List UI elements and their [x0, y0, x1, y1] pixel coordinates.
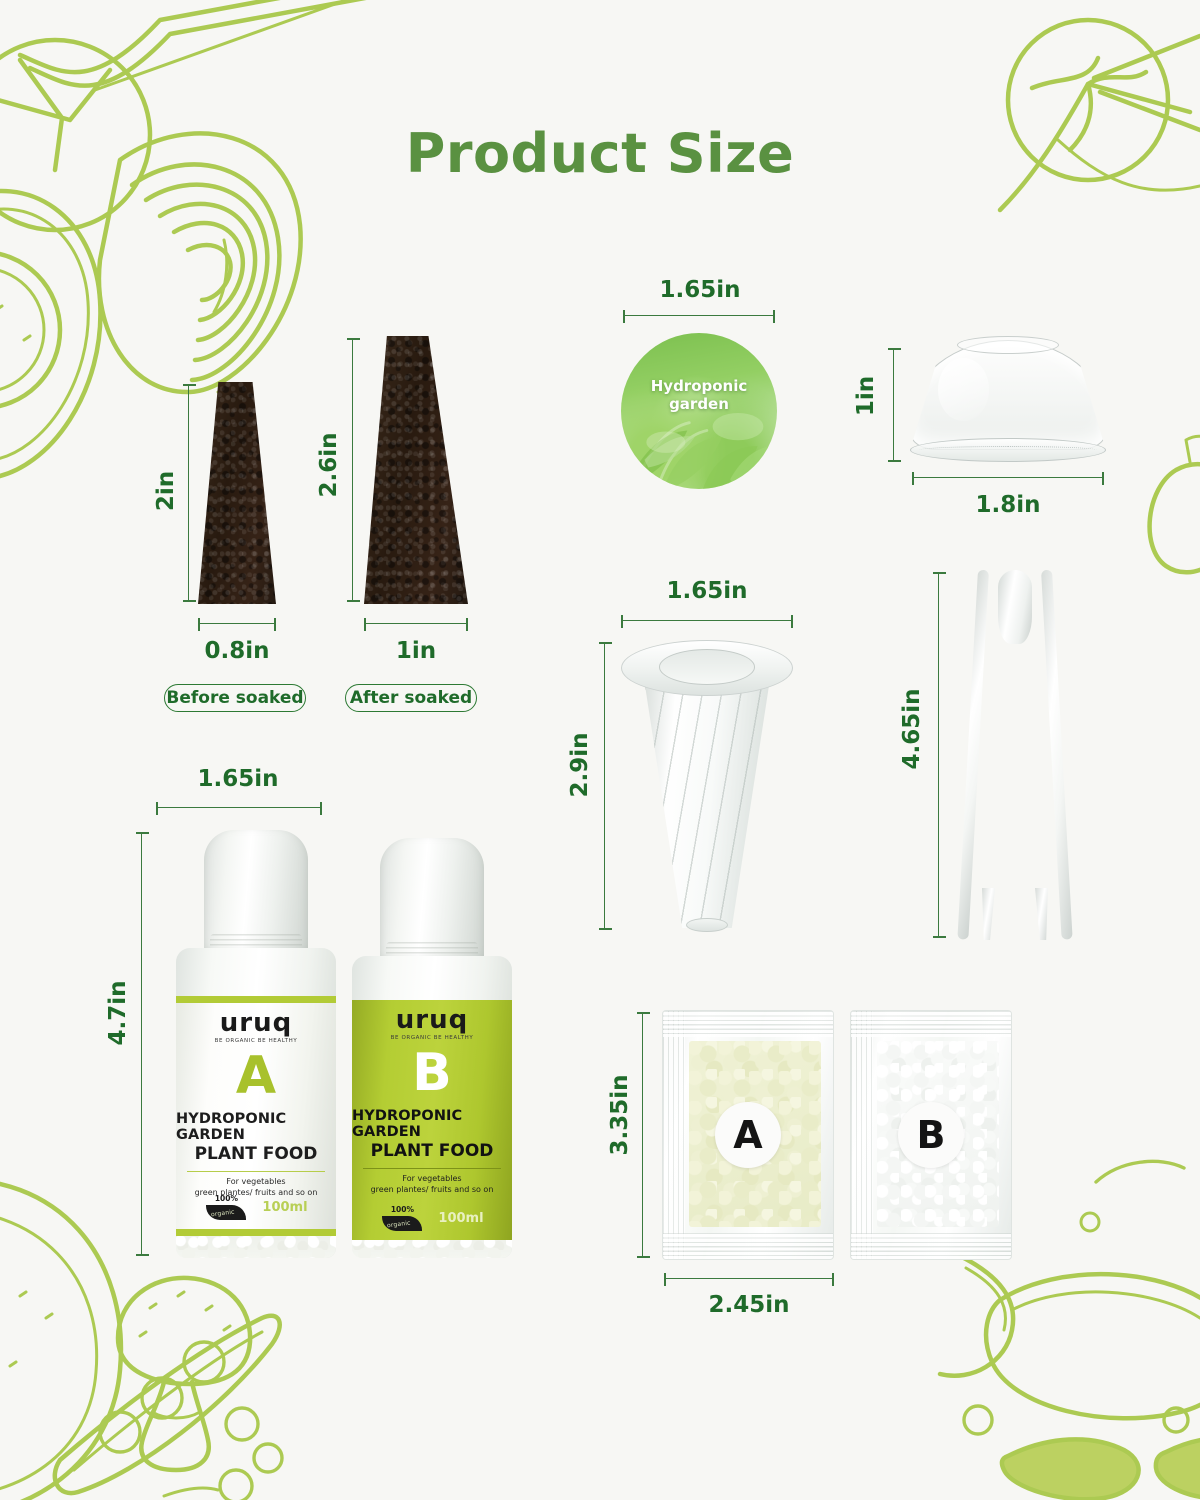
sponge-before-soaked	[198, 382, 276, 604]
bottle-b-label: uruq BE ORGANIC BE HEALTHY B HYDROPONIC …	[352, 1000, 512, 1240]
net-cup	[621, 640, 793, 928]
bottle-a-badge-pct: 100%	[215, 1194, 238, 1203]
bottle-b-line1: HYDROPONIC GARDEN	[352, 1108, 512, 1140]
bottle-a-body: uruq BE ORGANIC BE HEALTHY A HYDROPONIC …	[176, 948, 336, 1258]
bottle-b-cap	[380, 838, 484, 964]
bottle-a-line1: HYDROPONIC GARDEN	[176, 1111, 336, 1143]
sachets-height-label: 3.35in	[607, 1067, 633, 1163]
sponge-after-height-label: 2.6in	[316, 424, 342, 506]
bottle-a-cap	[204, 830, 308, 956]
sponge-after-caption: After soaked	[345, 684, 477, 712]
sponge-after-height-rule	[352, 338, 353, 602]
bottle-b-fine2: green plantes/ fruits and so on	[371, 1185, 494, 1194]
sponge-before-height-label: 2in	[153, 459, 179, 523]
tweezer-bend	[998, 570, 1032, 644]
sachets-height-rule	[642, 1012, 643, 1258]
dome-bottom-rim	[910, 438, 1106, 462]
bottles-width-label: 1.65in	[152, 766, 324, 792]
organic-badge-icon: 100% organic	[204, 1194, 248, 1220]
sponge-before-width-label: 0.8in	[178, 638, 296, 664]
bottle-b-fineprint: For vegetables green plantes/ fruits and…	[371, 1174, 494, 1196]
dome-width-rule	[912, 477, 1104, 478]
sticker-line-1: Hydroponic	[651, 377, 748, 395]
bottle-b-letter: B	[412, 1047, 452, 1099]
netcup-height-rule	[604, 642, 605, 930]
sachet-b-label-disc: B	[898, 1102, 964, 1168]
dome-lid	[910, 340, 1106, 462]
bottle-a-tagline: BE ORGANIC BE HEALTHY	[215, 1038, 298, 1044]
net-cup-opening	[659, 649, 755, 685]
dome-width-label: 1.8in	[936, 492, 1080, 518]
bottle-a-line2: PLANT FOOD	[195, 1144, 318, 1164]
plant-food-bottle-b: uruq BE ORGANIC BE HEALTHY B HYDROPONIC …	[352, 838, 512, 1258]
dome-top-rim	[957, 336, 1059, 354]
sachet-a-bottom-seal	[663, 1233, 833, 1259]
bottle-b-badge-pct: 100%	[391, 1205, 414, 1214]
net-cup-ribs	[645, 686, 769, 928]
tweezers-height-label: 4.65in	[899, 681, 925, 777]
sponge-before-width-rule	[198, 623, 276, 624]
net-cup-foot	[686, 918, 727, 932]
bottle-b-divider	[363, 1168, 501, 1169]
bottle-b-volume: 100ml	[438, 1211, 483, 1226]
bottle-b-bottom-row: 100% organic 100ml	[352, 1205, 512, 1231]
dome-shell	[910, 340, 1106, 450]
bottle-a-letter: A	[236, 1050, 276, 1102]
sponge-after-soaked	[364, 336, 468, 604]
bottle-b-brand: uruq	[396, 1007, 468, 1033]
sponge-before-height-rule	[188, 384, 189, 602]
bottle-a-brand: uruq	[220, 1010, 292, 1036]
sachet-a-side-seal	[663, 1011, 685, 1259]
plant-food-bottle-a: uruq BE ORGANIC BE HEALTHY A HYDROPONIC …	[176, 830, 336, 1258]
sticker-width-label: 1.65in	[617, 277, 783, 303]
tweezer-arm-left	[957, 570, 989, 940]
tweezer-tip-left	[982, 888, 995, 940]
sachet-a-top-seal	[663, 1011, 833, 1037]
bottle-a-divider	[187, 1171, 325, 1172]
sponge-after-width-label: 1in	[356, 638, 476, 664]
bottle-a-label: uruq BE ORGANIC BE HEALTHY A HYDROPONIC …	[176, 996, 336, 1236]
sachet-a-label-disc: A	[715, 1102, 781, 1168]
tweezer-tip-right	[1035, 888, 1048, 940]
bottles-width-rule	[156, 807, 322, 808]
tweezer-arm-right	[1041, 570, 1073, 940]
tweezers-height-rule	[938, 572, 939, 938]
sachets-width-rule	[664, 1278, 834, 1279]
sachet-b-top-seal	[851, 1011, 1011, 1037]
netcup-height-label: 2.9in	[567, 723, 593, 807]
hydroponic-garden-sticker: Hydroponic garden	[621, 333, 777, 489]
bottles-height-rule	[141, 832, 142, 1256]
bottle-b-tagline: BE ORGANIC BE HEALTHY	[391, 1035, 474, 1041]
bottle-a-bottom-row: 100% organic 100ml	[176, 1194, 336, 1220]
product-size-infographic: Product Size 2in 0.8in Before soaked 2.6…	[0, 0, 1200, 1500]
nutrient-sachet-b: B	[850, 1010, 1012, 1260]
bottle-a-fine1: For vegetables	[226, 1177, 285, 1186]
organic-badge-icon: 100% organic	[380, 1205, 424, 1231]
bottle-b-fine1: For vegetables	[402, 1174, 461, 1183]
sponge-after-width-rule	[364, 623, 468, 624]
dome-height-rule	[893, 348, 894, 462]
tweezers	[960, 570, 1070, 940]
bottle-b-line2: PLANT FOOD	[371, 1141, 494, 1161]
sachet-b-bottom-seal	[851, 1233, 1011, 1259]
sponge-before-caption: Before soaked	[164, 684, 306, 712]
sachet-b-side-seal	[851, 1011, 873, 1259]
bottles-height-label: 4.7in	[105, 971, 131, 1055]
nutrient-sachet-a: A	[662, 1010, 834, 1260]
page-title: Product Size	[0, 122, 1200, 185]
sticker-width-rule	[623, 315, 775, 316]
netcup-width-label: 1.65in	[618, 578, 796, 604]
bottle-a-volume: 100ml	[262, 1200, 307, 1215]
bottle-b-body: uruq BE ORGANIC BE HEALTHY B HYDROPONIC …	[352, 956, 512, 1258]
netcup-width-rule	[621, 620, 793, 621]
sticker-caption: Hydroponic garden	[621, 377, 777, 415]
sticker-line-2: garden	[669, 395, 729, 413]
sachets-width-label: 2.45in	[654, 1292, 844, 1318]
dome-height-label: 1in	[853, 368, 879, 424]
